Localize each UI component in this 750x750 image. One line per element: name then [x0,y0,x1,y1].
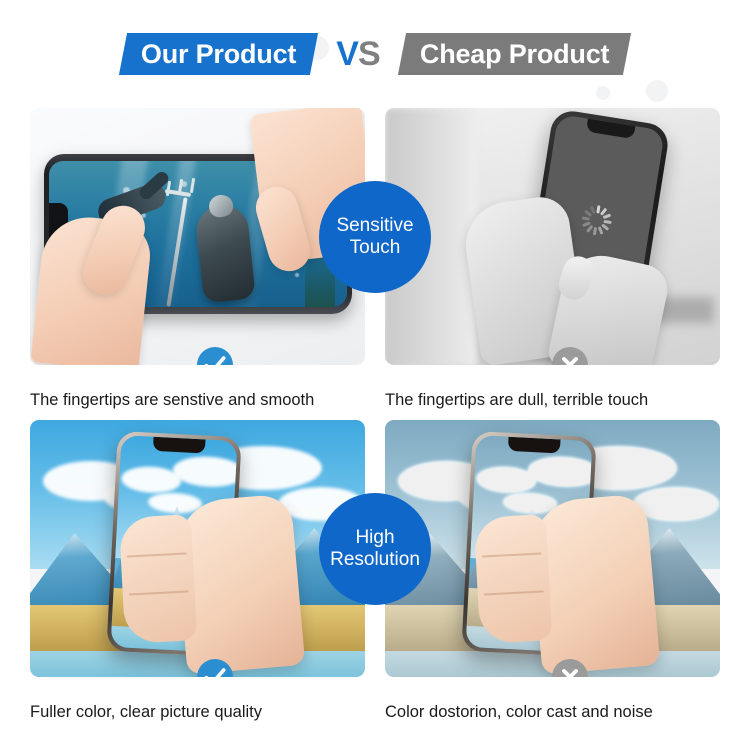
vs-letter-s: S [358,35,380,73]
panel-top-left: The fingertips are senstive and smooth [30,108,365,411]
cross-icon [557,352,583,365]
vs-separator: VS [336,37,379,71]
vs-letter-v: V [336,35,358,73]
loading-spinner-icon [579,203,613,237]
caption-bottom-left: Fuller color, clear picture quality [30,703,365,723]
phone-notch [508,437,561,454]
phone-notch [153,437,206,454]
feature-badge-line1: Sensitive [336,215,413,237]
header: Our Product VS Cheap Product [0,22,750,86]
feature-badge-line2: Resolution [330,549,420,571]
comparison-infographic: Our Product VS Cheap Product [0,0,750,750]
our-product-banner: Our Product [119,33,318,75]
panel-bottom-left: Fuller color, clear picture quality [30,420,365,723]
photo-mountain-vivid [30,420,365,677]
fingers [119,514,197,644]
panel-bottom-right: Color dostorion, color cast and noise [385,420,720,723]
check-icon [202,352,228,365]
cheap-product-label: Cheap Product [420,41,609,68]
photo-lagging-phone [385,108,720,365]
panel-top-right: The fingertips are dull, terrible touch [385,108,720,411]
photo-mountain-dull [385,420,720,677]
caption-top-left: The fingertips are senstive and smooth [30,391,365,411]
cross-icon [557,664,583,677]
check-icon [202,664,228,677]
photo-gaming-phone [30,108,365,365]
feature-badge-line1: High [355,527,394,549]
caption-top-right: The fingertips are dull, terrible touch [385,391,720,411]
cheap-product-banner: Cheap Product [398,33,632,75]
phone-notch [586,119,635,139]
fingers [474,514,552,644]
main-diver [194,203,256,304]
decorative-bubble [596,86,610,100]
our-product-label: Our Product [141,41,296,68]
feature-badge-high-resolution: High Resolution [319,493,431,605]
feature-badge-line2: Touch [350,237,401,259]
caption-bottom-right: Color dostorion, color cast and noise [385,703,720,723]
feature-badge-sensitive-touch: Sensitive Touch [319,181,431,293]
